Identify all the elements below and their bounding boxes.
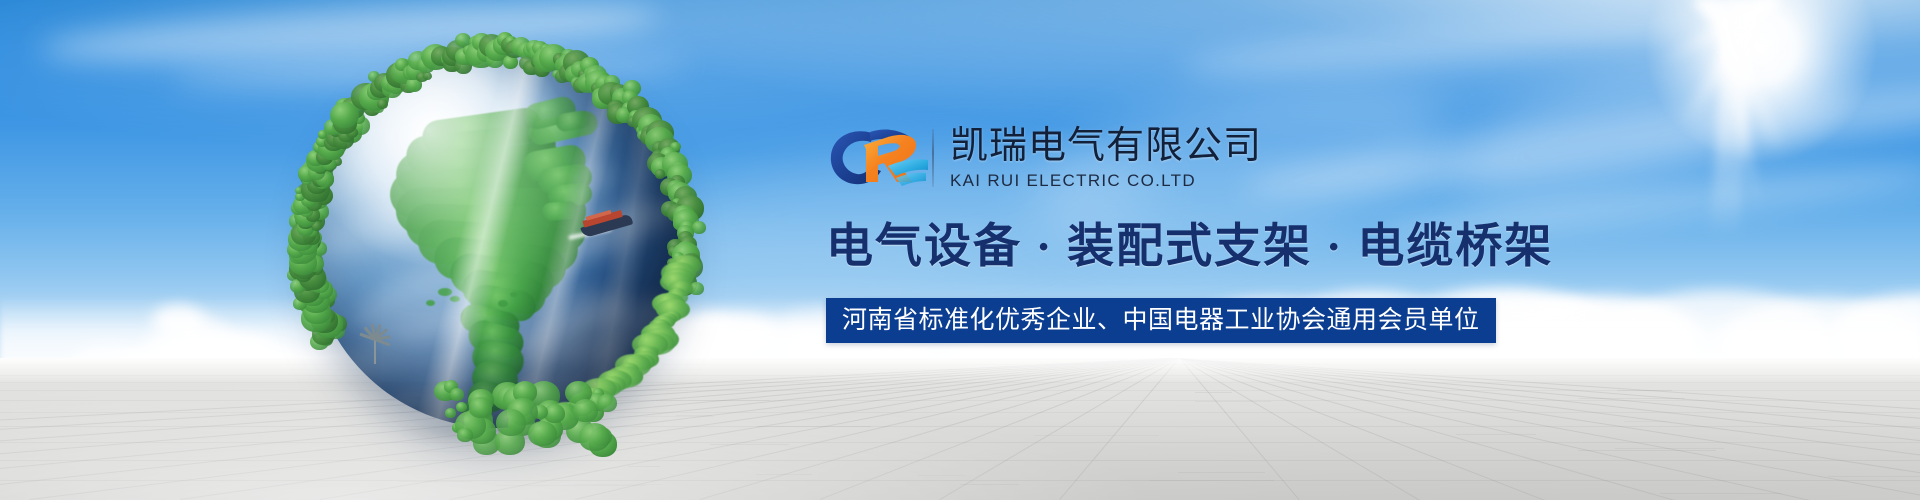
brand-lockup: 凯瑞电气有限公司 KAI RUI ELECTRIC CO.LTD [826, 120, 1526, 196]
tree-icon [469, 397, 492, 418]
tree-icon [597, 394, 617, 412]
tree-icon [573, 399, 598, 422]
palm-trunk [374, 340, 376, 364]
tree-icon [528, 421, 557, 447]
tree-icon [330, 102, 359, 129]
brand-divider [932, 129, 934, 187]
palm-tree-icon [362, 328, 392, 364]
banner-content: 凯瑞电气有限公司 KAI RUI ELECTRIC CO.LTD 电气设备 · … [826, 120, 1526, 343]
tree-icon [450, 388, 464, 401]
brand-name-block: 凯瑞电气有限公司 KAI RUI ELECTRIC CO.LTD [950, 125, 1262, 192]
green-earth-globe [284, 28, 704, 468]
tree-icon [377, 99, 388, 109]
tree-icon [457, 428, 472, 442]
tree-icon [456, 402, 467, 412]
tree-icon [445, 408, 456, 418]
banner-tagline: 电气设备 · 装配式支架 · 电缆桥架 [826, 218, 1526, 276]
credential-badge: 河南省标准化优秀企业、中国电器工业协会通用会员单位 [826, 298, 1496, 343]
tree-icon [423, 72, 432, 80]
promo-banner: 凯瑞电气有限公司 KAI RUI ELECTRIC CO.LTD 电气设备 · … [0, 0, 1920, 500]
globe-tree-rim [284, 28, 704, 468]
company-name-en: KAI RUI ELECTRIC CO.LTD [950, 170, 1262, 192]
company-name-cn: 凯瑞电气有限公司 [950, 125, 1262, 167]
tree-icon [496, 409, 526, 436]
cr-swoosh-logo-icon [826, 124, 930, 192]
tree-icon [655, 169, 665, 179]
tree-icon [579, 423, 611, 451]
